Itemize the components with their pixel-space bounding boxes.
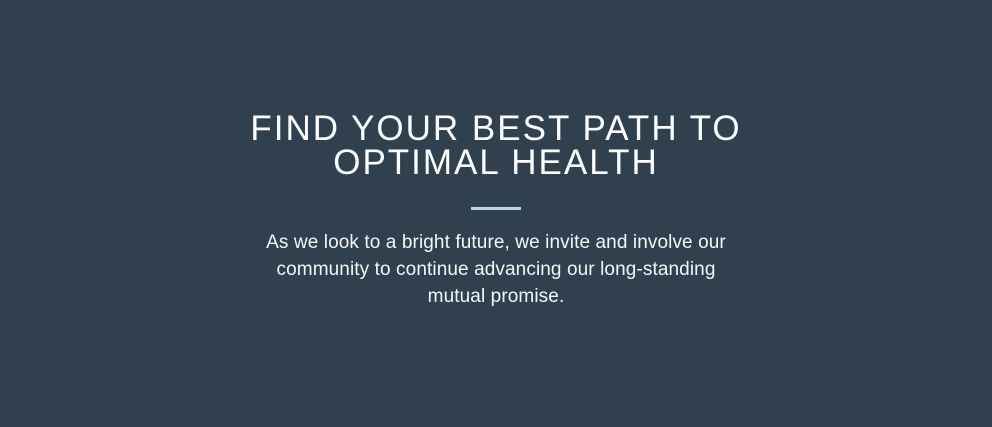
hero-description: As we look to a bright future, we invite… bbox=[246, 229, 746, 310]
title-divider bbox=[471, 207, 521, 210]
hero-content: FIND YOUR BEST PATH TO OPTIMAL HEALTH As… bbox=[216, 112, 776, 310]
page-title: FIND YOUR BEST PATH TO OPTIMAL HEALTH bbox=[250, 112, 741, 180]
hero-section: FIND YOUR BEST PATH TO OPTIMAL HEALTH As… bbox=[0, 0, 992, 427]
